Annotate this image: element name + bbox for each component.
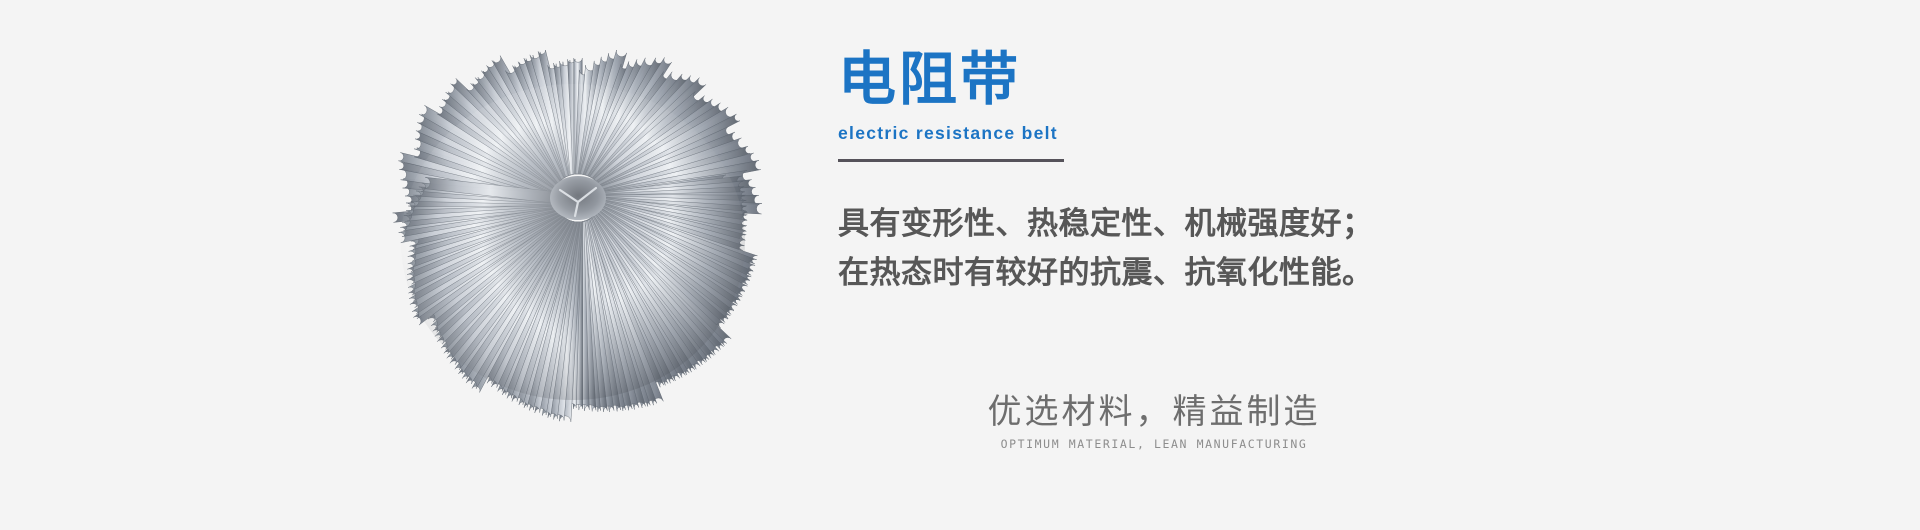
- photo-shading: [401, 84, 745, 400]
- product-image: [368, 50, 788, 430]
- page-title: 电阻带: [838, 46, 1778, 112]
- banner-content: 电阻带 electric resistance belt 具有变形性、热稳定性、…: [838, 46, 1778, 506]
- title-divider: [838, 159, 1064, 162]
- product-description: 具有变形性、热稳定性、机械强度好； 在热态时有较好的抗震、抗氧化性能。: [838, 200, 1778, 298]
- slogan-en: OPTIMUM MATERIAL, LEAN MANUFACTURING: [934, 437, 1374, 452]
- product-banner: 电阻带 electric resistance belt 具有变形性、热稳定性、…: [0, 0, 1920, 530]
- description-line-2: 在热态时有较好的抗震、抗氧化性能。: [838, 249, 1778, 298]
- slogan-zh: 优选材料，精益制造: [934, 391, 1374, 433]
- slogan-block: 优选材料，精益制造 OPTIMUM MATERIAL, LEAN MANUFAC…: [934, 391, 1374, 452]
- description-line-1: 具有变形性、热稳定性、机械强度好；: [838, 200, 1778, 249]
- page-subtitle: electric resistance belt: [838, 123, 1778, 143]
- resistance-belt-illustration: [368, 50, 788, 430]
